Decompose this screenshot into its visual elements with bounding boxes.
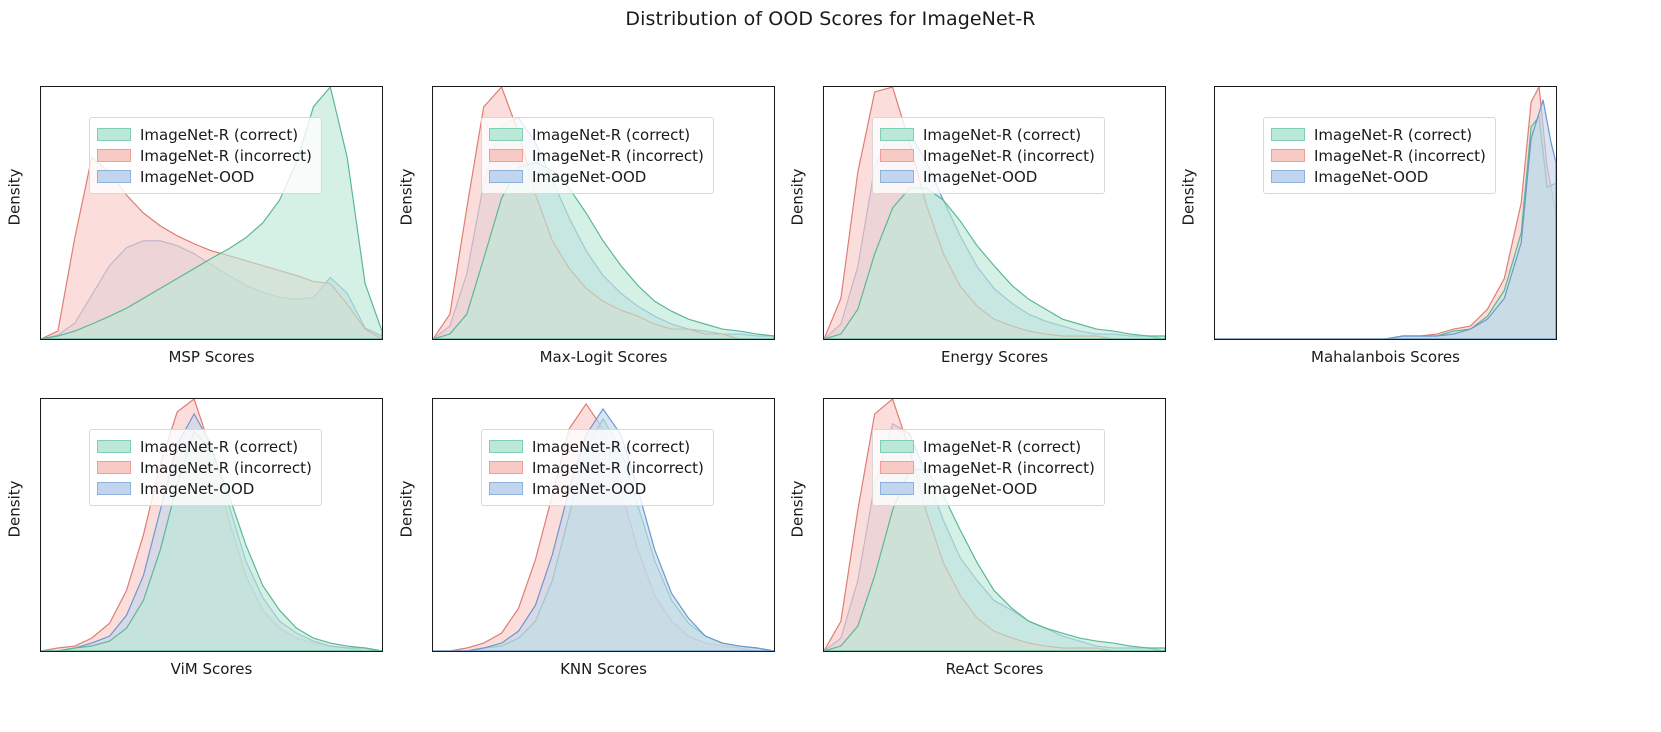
x-axis-label-energy: Energy Scores [823, 348, 1166, 366]
legend-row-incorrect: ImageNet-R (incorrect) [97, 457, 312, 478]
legend-label-incorrect: ImageNet-R (incorrect) [532, 147, 704, 165]
legend-row-incorrect: ImageNet-R (incorrect) [1271, 145, 1486, 166]
subplot-grid: Density ImageNet-R (correct) ImageNet-R … [0, 62, 1661, 722]
legend-swatch-correct [489, 440, 523, 453]
legend-row-ood: ImageNet-OOD [97, 166, 312, 187]
legend-label-correct: ImageNet-R (correct) [532, 438, 690, 456]
legend-label-ood: ImageNet-OOD [923, 168, 1037, 186]
legend-swatch-incorrect [97, 149, 131, 162]
legend-swatch-correct [880, 440, 914, 453]
legend-row-incorrect: ImageNet-R (incorrect) [489, 457, 704, 478]
legend-label-correct: ImageNet-R (correct) [923, 438, 1081, 456]
legend-swatch-ood [97, 170, 131, 183]
legend-swatch-ood [1271, 170, 1305, 183]
legend-swatch-ood [880, 170, 914, 183]
legend-row-correct: ImageNet-R (correct) [489, 124, 704, 145]
legend-swatch-ood [489, 170, 523, 183]
legend-row-ood: ImageNet-OOD [1271, 166, 1486, 187]
legend-label-ood: ImageNet-OOD [532, 480, 646, 498]
legend-row-correct: ImageNet-R (correct) [97, 124, 312, 145]
legend-mahalanbois: ImageNet-R (correct) ImageNet-R (incorre… [1263, 117, 1496, 194]
legend-label-correct: ImageNet-R (correct) [140, 126, 298, 144]
plot-area-knn: ImageNet-R (correct) ImageNet-R (incorre… [432, 398, 775, 652]
y-axis-label: Density [2, 62, 28, 332]
legend-label-correct: ImageNet-R (correct) [1314, 126, 1472, 144]
legend-swatch-correct [97, 128, 131, 141]
legend-swatch-ood [97, 482, 131, 495]
legend-swatch-correct [1271, 128, 1305, 141]
legend-label-correct: ImageNet-R (correct) [923, 126, 1081, 144]
plot-area-react: ImageNet-R (correct) ImageNet-R (incorre… [823, 398, 1166, 652]
plot-area-msp: ImageNet-R (correct) ImageNet-R (incorre… [40, 86, 383, 340]
y-axis-label: Density [1176, 62, 1202, 332]
legend-row-correct: ImageNet-R (correct) [880, 436, 1095, 457]
x-axis-label-max-logit: Max-Logit Scores [432, 348, 775, 366]
legend-row-incorrect: ImageNet-R (incorrect) [880, 457, 1095, 478]
legend-row-ood: ImageNet-OOD [880, 166, 1095, 187]
y-axis-label: Density [785, 374, 811, 644]
x-axis-label-msp: MSP Scores [40, 348, 383, 366]
x-axis-label-vim: ViM Scores [40, 660, 383, 678]
legend-label-incorrect: ImageNet-R (incorrect) [140, 459, 312, 477]
legend-row-correct: ImageNet-R (correct) [489, 436, 704, 457]
figure-title: Distribution of OOD Scores for ImageNet-… [0, 8, 1661, 30]
legend-swatch-ood [880, 482, 914, 495]
panel-knn-scores: Density ImageNet-R (correct) ImageNet-R … [392, 374, 792, 684]
legend-label-incorrect: ImageNet-R (incorrect) [140, 147, 312, 165]
x-axis-label-knn: KNN Scores [432, 660, 775, 678]
legend-row-correct: ImageNet-R (correct) [97, 436, 312, 457]
legend-label-correct: ImageNet-R (correct) [532, 126, 690, 144]
legend-msp: ImageNet-R (correct) ImageNet-R (incorre… [89, 117, 322, 194]
y-axis-label: Density [394, 374, 420, 644]
legend-label-incorrect: ImageNet-R (incorrect) [532, 459, 704, 477]
legend-label-ood: ImageNet-OOD [140, 480, 254, 498]
legend-label-incorrect: ImageNet-R (incorrect) [923, 459, 1095, 477]
legend-swatch-incorrect [1271, 149, 1305, 162]
panel-react-scores: Density ImageNet-R (correct) ImageNet-R … [783, 374, 1183, 684]
legend-knn: ImageNet-R (correct) ImageNet-R (incorre… [481, 429, 714, 506]
panel-vim-scores: Density ImageNet-R (correct) ImageNet-R … [0, 374, 400, 684]
panel-msp-scores: Density ImageNet-R (correct) ImageNet-R … [0, 62, 400, 372]
legend-row-correct: ImageNet-R (correct) [1271, 124, 1486, 145]
legend-swatch-correct [489, 128, 523, 141]
plot-area-energy: ImageNet-R (correct) ImageNet-R (incorre… [823, 86, 1166, 340]
legend-label-incorrect: ImageNet-R (incorrect) [923, 147, 1095, 165]
legend-label-correct: ImageNet-R (correct) [140, 438, 298, 456]
legend-energy: ImageNet-R (correct) ImageNet-R (incorre… [872, 117, 1105, 194]
legend-react: ImageNet-R (correct) ImageNet-R (incorre… [872, 429, 1105, 506]
panel-energy-scores: Density ImageNet-R (correct) ImageNet-R … [783, 62, 1183, 372]
x-axis-label-react: ReAct Scores [823, 660, 1166, 678]
panel-mahalanbois-scores: Density ImageNet-R (correct) ImageNet-R … [1174, 62, 1574, 372]
panel-max-logit-scores: Density ImageNet-R (correct) ImageNet-R … [392, 62, 792, 372]
plot-area-vim: ImageNet-R (correct) ImageNet-R (incorre… [40, 398, 383, 652]
legend-row-ood: ImageNet-OOD [489, 478, 704, 499]
y-axis-label: Density [394, 62, 420, 332]
legend-label-incorrect: ImageNet-R (incorrect) [1314, 147, 1486, 165]
legend-swatch-incorrect [97, 461, 131, 474]
legend-row-ood: ImageNet-OOD [489, 166, 704, 187]
legend-row-incorrect: ImageNet-R (incorrect) [489, 145, 704, 166]
legend-label-ood: ImageNet-OOD [1314, 168, 1428, 186]
legend-swatch-correct [880, 128, 914, 141]
legend-vim: ImageNet-R (correct) ImageNet-R (incorre… [89, 429, 322, 506]
legend-label-ood: ImageNet-OOD [140, 168, 254, 186]
plot-area-mahalanbois: ImageNet-R (correct) ImageNet-R (incorre… [1214, 86, 1557, 340]
legend-swatch-incorrect [489, 149, 523, 162]
y-axis-label: Density [2, 374, 28, 644]
legend-row-ood: ImageNet-OOD [97, 478, 312, 499]
panel-empty [1174, 374, 1574, 684]
legend-max-logit: ImageNet-R (correct) ImageNet-R (incorre… [481, 117, 714, 194]
plot-area-max-logit: ImageNet-R (correct) ImageNet-R (incorre… [432, 86, 775, 340]
legend-swatch-correct [97, 440, 131, 453]
legend-swatch-ood [489, 482, 523, 495]
legend-swatch-incorrect [489, 461, 523, 474]
y-axis-label: Density [785, 62, 811, 332]
x-axis-label-mahalanbois: Mahalanbois Scores [1214, 348, 1557, 366]
legend-label-ood: ImageNet-OOD [923, 480, 1037, 498]
legend-row-incorrect: ImageNet-R (incorrect) [97, 145, 312, 166]
legend-swatch-incorrect [880, 149, 914, 162]
legend-label-ood: ImageNet-OOD [532, 168, 646, 186]
legend-row-ood: ImageNet-OOD [880, 478, 1095, 499]
legend-swatch-incorrect [880, 461, 914, 474]
legend-row-correct: ImageNet-R (correct) [880, 124, 1095, 145]
legend-row-incorrect: ImageNet-R (incorrect) [880, 145, 1095, 166]
